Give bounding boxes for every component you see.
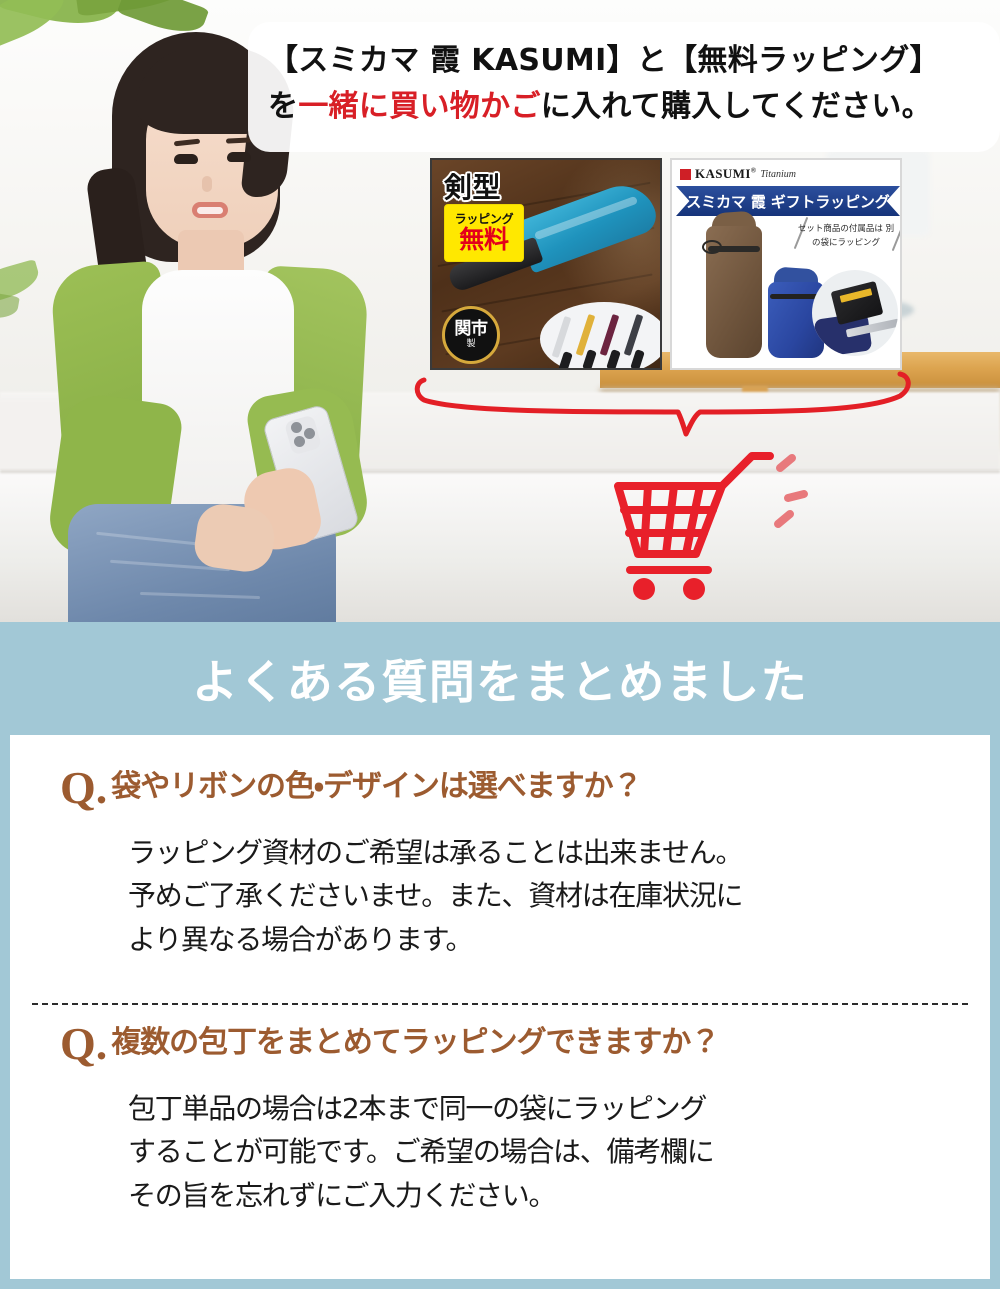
hero-section: 【スミカマ 霞 KASUMI】と【無料ラッピング】 を一緒に買い物かごに入れて購… (0, 0, 1000, 622)
brand-subtitle: Titanium (760, 169, 796, 180)
gift-wrapping-ribbon: スミカマ 霞 ギフトラッピング (676, 186, 900, 216)
badge-main-label: 無料 (459, 227, 509, 253)
wrapping-annotation: セット商品の付属品は 別の袋にラッピング (794, 222, 898, 251)
red-brace-arrow (400, 368, 960, 448)
question-marker-1: Q. (60, 765, 107, 811)
faq-question-row-2: Q. 複数の包丁をまとめてラッピングできますか？ (10, 1025, 990, 1067)
badge-top-label: ラッピング (455, 213, 514, 225)
faq-section: よくある質問をまとめました Q. 袋やリボンの色・デザインは選べますか？ ラッピ… (0, 622, 1000, 1289)
faq-item-1[interactable]: Q. 袋やリボンの色・デザインは選べますか？ ラッピング資材のご希望は承ることは… (10, 769, 990, 961)
seal-sub-label: 製 (466, 340, 475, 349)
hero-headline: 【スミカマ 霞 KASUMI】と【無料ラッピング】 を一緒に買い物かごに入れて購… (268, 38, 988, 129)
faq-item-2[interactable]: Q. 複数の包丁をまとめてラッピングできますか？ 包丁単品の場合は2本まで同一の… (10, 1025, 990, 1217)
faq-banner-title: よくある質問をまとめました (192, 646, 808, 712)
knife-type-label: 剣型 (444, 166, 501, 206)
faq-answer-2: 包丁単品の場合は2本まで同一の袋にラッピング することが可能です。ご希望の場合は… (10, 1087, 990, 1217)
faq-card: Q. 袋やリボンの色・デザインは選べますか？ ラッピング資材のご希望は承ることは… (10, 735, 990, 1279)
faq-divider (32, 1003, 968, 1005)
faq-question-row-1: Q. 袋やリボンの色・デザインは選べますか？ (10, 769, 990, 811)
product-card-knife[interactable]: 剣型 ラッピング 無料 関市 製 (430, 158, 662, 370)
accessory-inset (812, 270, 898, 356)
seal-main-label: 関市 (454, 321, 487, 338)
free-wrapping-badge: ラッピング 無料 (444, 204, 524, 262)
faq-question-2: 複数の包丁をまとめてラッピングできますか？ (111, 1025, 719, 1060)
kasumi-logo: KASUMI® Titanium (680, 166, 796, 182)
seki-city-seal: 関市 製 (442, 306, 500, 364)
question-marker-2: Q. (60, 1021, 107, 1067)
promo-page: 【スミカマ 霞 KASUMI】と【無料ラッピング】 を一緒に買い物かごに入れて購… (0, 0, 1000, 1289)
logo-square-icon (680, 169, 691, 180)
faq-banner: よくある質問をまとめました (0, 622, 1000, 735)
faq-answer-1: ラッピング資材のご希望は承ることは出来ません。 予めご了承くださいませ。また、資… (10, 831, 990, 961)
brand-name: KASUMI® (695, 166, 756, 182)
headline-line2-b: に入れて購入してください。 (541, 89, 932, 124)
headline-line1: 【スミカマ 霞 KASUMI】と【無料ラッピング】 (268, 43, 940, 78)
headline-line2-a: を (268, 89, 298, 124)
product-card-gift-wrapping[interactable]: KASUMI® Titanium スミカマ 霞 ギフトラッピング セット商品の (670, 158, 902, 370)
faq-question-1: 袋やリボンの色・デザインは選べますか？ (111, 769, 641, 804)
ribbon-label: スミカマ 霞 ギフトラッピング (686, 191, 889, 212)
headline-line2-highlight: 一緒に買い物かご (298, 89, 540, 124)
shopping-cart-icon (612, 450, 812, 600)
